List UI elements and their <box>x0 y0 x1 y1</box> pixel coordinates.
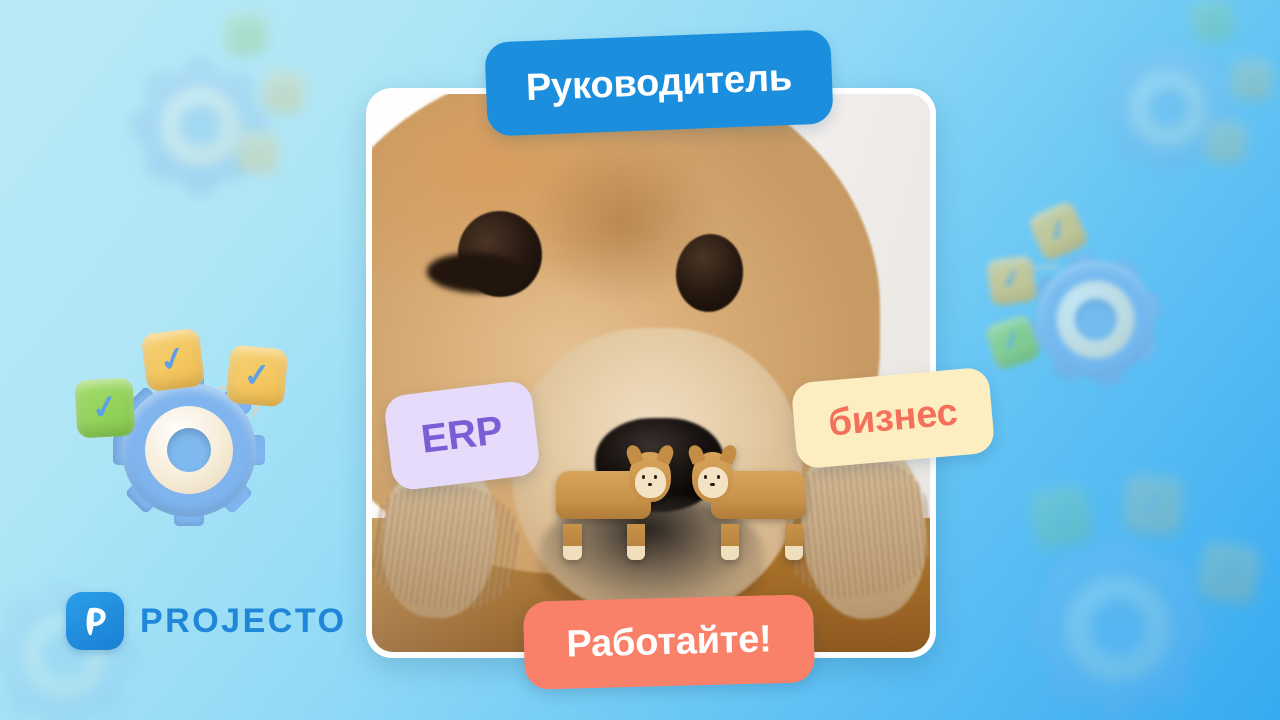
decor-check-card-amber-top: ✓ <box>1027 199 1090 262</box>
decor-check-card-left: ✓ <box>75 378 136 439</box>
decor-gear-cluster-left: ✓ ✓ ✓ <box>78 325 298 525</box>
promo-banner: ✓ ✓ ✓ ✓ ✓ <box>0 0 1280 720</box>
background-gear-motif-top-right: ✓ ✓ ✓ <box>1110 10 1280 190</box>
toy-shiba-left <box>556 440 678 560</box>
pill-erp[interactable]: ERP <box>383 379 541 491</box>
pill-rukovoditel[interactable]: Руководитель <box>484 29 833 136</box>
projecto-logo[interactable]: PROJECTO <box>66 592 346 650</box>
projecto-p-mark-icon <box>66 592 124 650</box>
pill-rabotayte[interactable]: Работайте! <box>523 594 815 690</box>
photo-card <box>366 88 936 658</box>
background-gear-motif-bottom-right: ✓ ✓ ✓ <box>1020 470 1270 720</box>
pill-biznes[interactable]: бизнес <box>791 367 996 470</box>
decor-check-card-right: ✓ <box>226 345 289 408</box>
decor-check-card-green: ✓ <box>984 313 1042 371</box>
decor-check-card-top: ✓ <box>141 328 206 393</box>
projecto-wordmark: PROJECTO <box>140 602 346 641</box>
background-gear-motif-top-left: ✓ ✓ ✓ <box>130 20 320 200</box>
toy-shiba-right <box>684 440 806 560</box>
dog-photo <box>372 94 930 652</box>
decor-check-card-amber-left: ✓ <box>986 255 1038 307</box>
